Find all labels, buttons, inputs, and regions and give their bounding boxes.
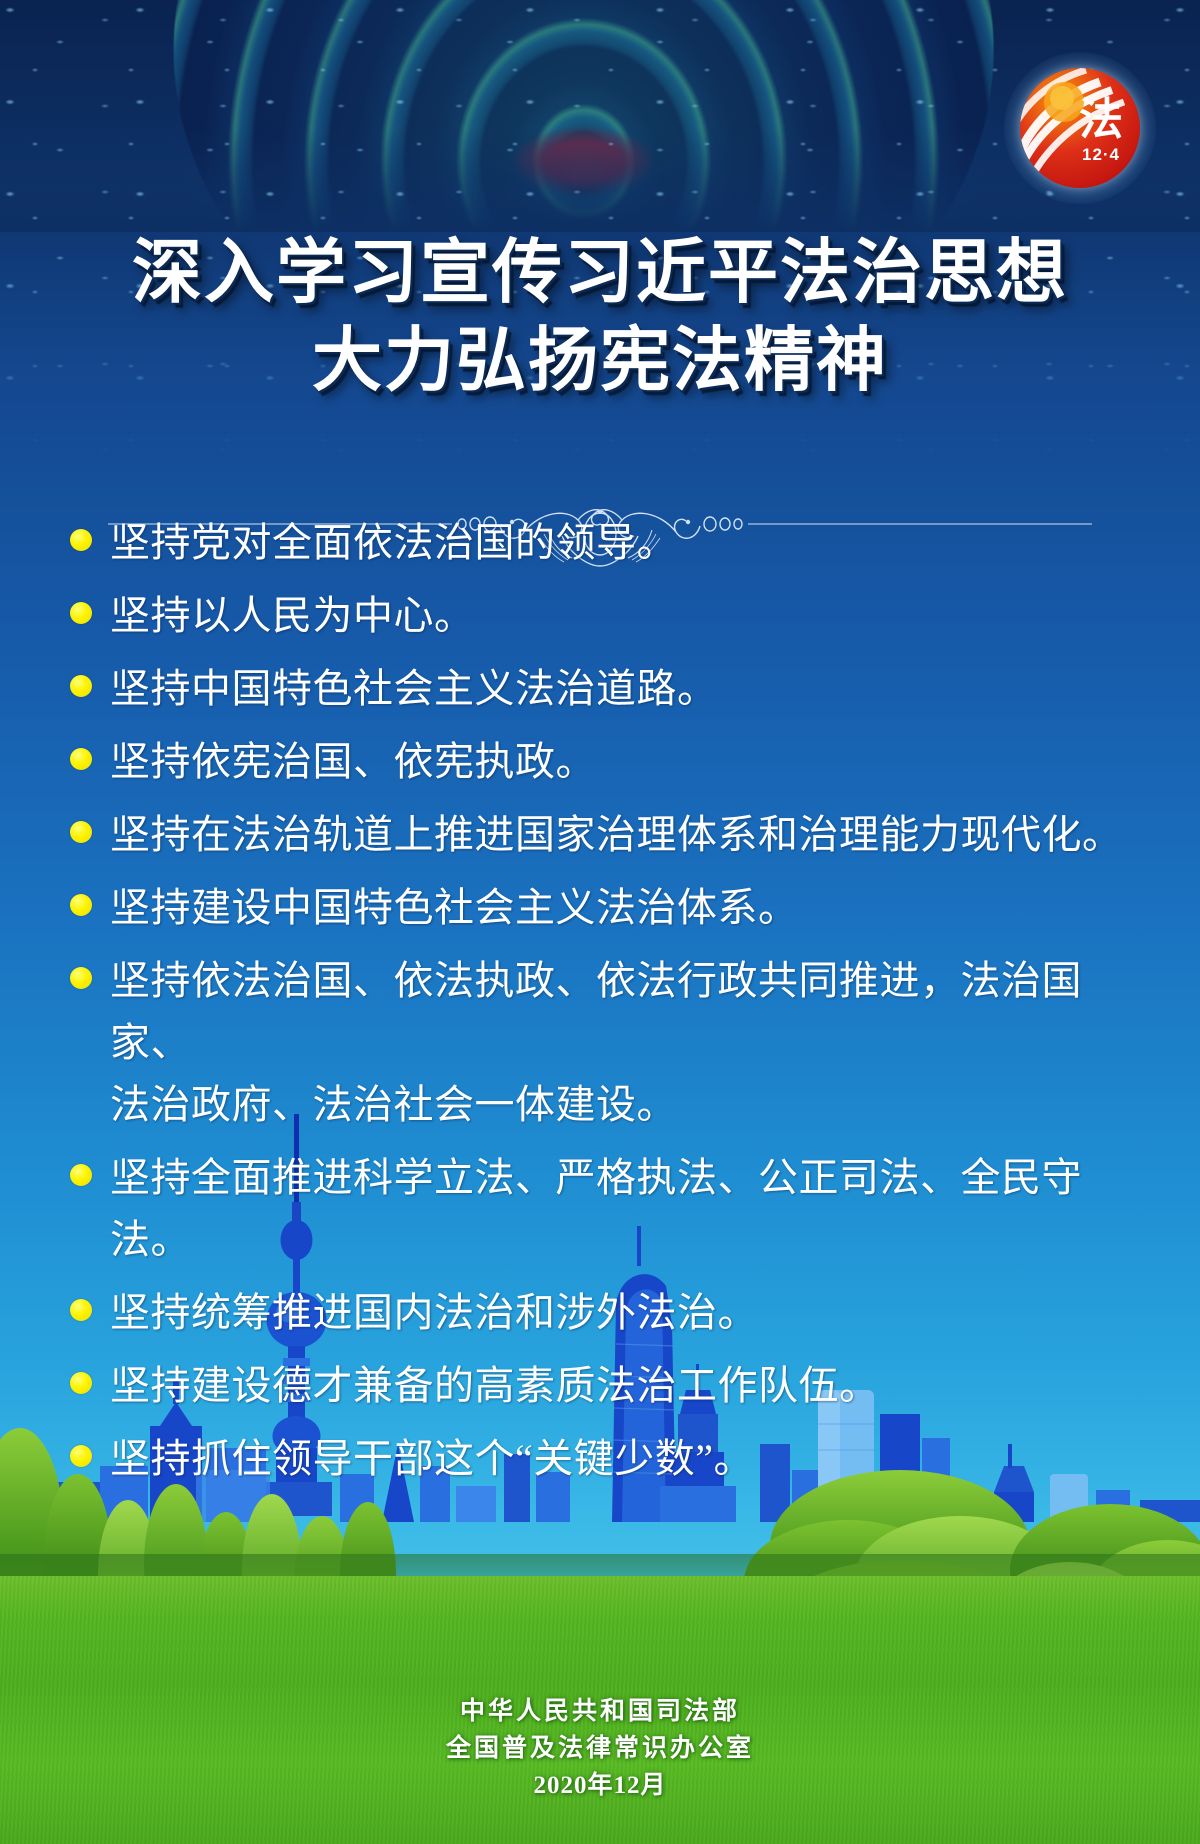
list-item: 坚持全面推进科学立法、严格执法、公正司法、全民守法。 [70, 1147, 1140, 1271]
list-item-text: 坚持以人民为中心。 [110, 585, 475, 647]
footer-date: 2020年12月 [0, 1767, 1200, 1804]
bullet-dot-icon [70, 1299, 92, 1321]
logo-date-label: 12·4 [1070, 146, 1132, 164]
list-item-text: 坚持建设中国特色社会主义法治体系。 [110, 877, 799, 939]
list-item: 坚持依宪治国、依宪执政。 [70, 731, 1140, 793]
list-item-text: 坚持全面推进科学立法、严格执法、公正司法、全民守法。 [110, 1147, 1140, 1271]
list-item-text: 坚持依法治国、依法执政、依法行政共同推进，法治国家、 [110, 958, 1082, 1065]
list-item-text: 坚持党对全面依法治国的领导。 [110, 512, 677, 574]
list-item: 坚持党对全面依法治国的领导。 [70, 512, 1140, 574]
bullet-dot-icon [70, 821, 92, 843]
national-legal-publicity-day-logo: 法 12·4 [1020, 68, 1140, 188]
list-item: 坚持中国特色社会主义法治道路。 [70, 658, 1140, 720]
list-item-text: 坚持统筹推进国内法治和涉外法治。 [110, 1282, 758, 1344]
bullet-dot-icon [70, 1164, 92, 1186]
list-item-text: 坚持依宪治国、依宪执政。 [110, 731, 596, 793]
headline-line-2: 大力弘扬宪法精神 [0, 316, 1200, 404]
footer-line-1: 中华人民共和国司法部 [0, 1693, 1200, 1730]
poster-headline: 深入学习宣传习近平法治思想 大力弘扬宪法精神 [0, 228, 1200, 404]
bullet-dot-icon [70, 529, 92, 551]
poster-root: 法 12·4 深入学习宣传习近平法治思想 大力弘扬宪法精神 [0, 0, 1200, 1844]
bullet-dot-icon [70, 967, 92, 989]
list-item-text-wrap: 坚持依法治国、依法执政、依法行政共同推进，法治国家、法治政府、法治社会一体建设。 [110, 950, 1140, 1136]
list-item: 坚持在法治轨道上推进国家治理体系和治理能力现代化。 [70, 804, 1140, 866]
list-item: 坚持以人民为中心。 [70, 585, 1140, 647]
list-item-text: 坚持中国特色社会主义法治道路。 [110, 658, 718, 720]
headline-line-1: 深入学习宣传习近平法治思想 [132, 233, 1068, 311]
list-item: 坚持依法治国、依法执政、依法行政共同推进，法治国家、法治政府、法治社会一体建设。 [70, 950, 1140, 1136]
list-item-text-continued: 法治政府、法治社会一体建设。 [110, 1074, 1140, 1136]
footer-line-2: 全国普及法律常识办公室 [0, 1730, 1200, 1767]
list-item: 坚持建设中国特色社会主义法治体系。 [70, 877, 1140, 939]
principles-list: 坚持党对全面依法治国的领导。 坚持以人民为中心。 坚持中国特色社会主义法治道路。… [70, 512, 1140, 1501]
bullet-dot-icon [70, 602, 92, 624]
list-item: 坚持统筹推进国内法治和涉外法治。 [70, 1282, 1140, 1344]
bullet-dot-icon [70, 894, 92, 916]
bullet-dot-icon [70, 748, 92, 770]
logo-character-fa: 法 [1072, 98, 1130, 142]
bullet-dot-icon [70, 675, 92, 697]
list-item-text: 坚持在法治轨道上推进国家治理体系和治理能力现代化。 [110, 804, 1123, 866]
footer-credits: 中华人民共和国司法部 全国普及法律常识办公室 2020年12月 [0, 1693, 1200, 1804]
